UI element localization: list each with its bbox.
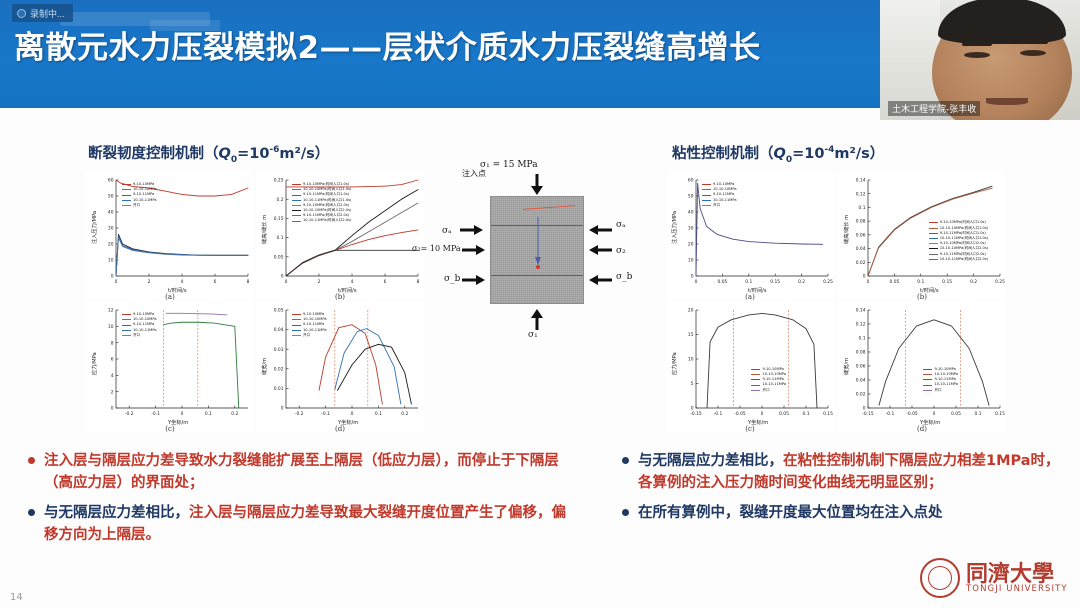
legend-swatch-icon	[702, 205, 711, 206]
legend-label: 开口	[762, 388, 769, 393]
bullet-text-segment: 在所有算例中，裂缝开度最大位置均在注入点处	[638, 505, 943, 521]
legend-swatch-icon	[292, 205, 301, 206]
y-tick-label: 10	[108, 324, 114, 330]
x-tick-label: 0	[351, 411, 354, 417]
chart-series-line	[319, 325, 382, 404]
x-tick-label: 0	[115, 279, 118, 285]
legend-swatch-icon	[929, 233, 938, 234]
x-tick-label: 0	[695, 279, 698, 285]
y-tick-label: 0.15	[274, 216, 284, 222]
x-axis-label: Y坐标/m	[920, 419, 940, 426]
legend-entry: 10-10-11MPa(时间人口2.0s)	[292, 218, 351, 223]
bullet-dot-icon	[28, 457, 35, 464]
x-tick-label: 4	[351, 279, 354, 285]
legend-entry: 开口	[292, 333, 327, 338]
recording-label: 录制中...	[30, 7, 65, 20]
chart-legend: 9-10-10MPa10-10-10MPa9-10-11MPa10-10-11M…	[751, 367, 786, 393]
legend-swatch-icon	[929, 222, 938, 223]
chart-plot-area: -0.15-0.1-0.0500.050.10.1505101520	[666, 302, 834, 432]
legend-swatch-icon	[702, 189, 711, 190]
legend-swatch-icon	[929, 228, 938, 229]
legend-swatch-icon	[122, 335, 131, 336]
chart-caption: (c)	[86, 425, 254, 433]
x-tick-label: -0.05	[906, 411, 918, 417]
speaker-eye-right	[1020, 50, 1046, 56]
x-tick-label: 0	[867, 279, 870, 285]
bullet-item: 与无隔层应力差相比，注入层与隔层应力差导致最大裂缝开度位置产生了偏移，偏移方向为…	[28, 502, 578, 547]
bullet-item: 与无隔层应力差相比，在粘性控制机制下隔层应力相差1MPa时，各算例的注入压力随时…	[622, 450, 1062, 495]
y-axis-label: 缝高/缝长 m	[261, 215, 268, 244]
chart-series-line	[116, 238, 248, 276]
x-tick-label: 0.25	[823, 279, 833, 285]
y-tick-label: 0	[863, 274, 866, 280]
legend-swatch-icon	[292, 189, 301, 190]
y-axis-label: 应力/MPa	[91, 352, 98, 375]
page-title: 离散元水力压裂模拟2——层状介质水力压裂缝高增长	[14, 22, 874, 67]
legend-swatch-icon	[923, 369, 932, 370]
x-tick-label: -0.2	[295, 411, 304, 417]
record-dot-icon	[17, 9, 26, 18]
chart-legend: 9-10-10MPa10-10-10MPa9-10-11MPa10-10-11M…	[923, 367, 958, 393]
sigma2-left-label: σ₂= 10 MPa	[412, 244, 461, 253]
y-tick-label: 0.02	[274, 366, 284, 372]
right-header-exp: -4	[824, 145, 834, 155]
legend-swatch-icon	[122, 314, 131, 315]
rock-specimen	[490, 196, 584, 304]
y-tick-label: 60	[688, 178, 694, 184]
left-header-eq: =10	[237, 146, 269, 162]
x-axis-label: Y坐标/m	[338, 419, 358, 426]
chart-series-line	[286, 250, 418, 276]
speaker-eye-left	[964, 52, 990, 58]
left-conclusions-list: 注入层与隔层应力差导致水力裂缝能扩展至上隔层（低应力层），而停止于下隔层（高应力…	[28, 450, 578, 554]
legend-swatch-icon	[702, 184, 711, 185]
legend-swatch-icon	[292, 200, 301, 201]
arrow-left-a-icon	[588, 224, 612, 236]
left-header-unit: m²/s）	[279, 146, 329, 162]
chart-left-a: 024680102030405060(a)t/时间/s注入压力/MPa9-10-…	[86, 172, 254, 300]
left-column-header: 断裂韧度控制机制（Q0=10-6m²/s）	[88, 142, 329, 165]
chart-series-line	[286, 230, 418, 276]
chart-plot-area: -0.2-0.100.10.2024681012	[86, 302, 254, 432]
x-tick-label: -0.1	[886, 411, 895, 417]
legend-label: 10-10-11MPa(时间人口2.0s)	[303, 218, 351, 223]
y-tick-label: 30	[688, 226, 694, 232]
chart-series-line	[337, 344, 411, 404]
x-tick-label: 0.05	[718, 279, 728, 285]
bullet-text: 在所有算例中，裂缝开度最大位置均在注入点处	[638, 502, 943, 524]
webcam-overlay[interactable]: 土木工程学院-张丰收	[880, 0, 1080, 120]
legend-label: 开口	[133, 203, 140, 208]
chart-caption: (c)	[666, 425, 834, 433]
y-tick-label: 0.1	[277, 235, 284, 241]
legend-swatch-icon	[751, 379, 760, 380]
chart-series-line	[166, 313, 227, 315]
page-number: 14	[10, 592, 23, 603]
y-tick-label: 0	[111, 274, 114, 280]
right-header-unit: m²/s）	[834, 146, 884, 162]
bullet-text: 与无隔层应力差相比，注入层与隔层应力差导致最大裂缝开度位置产生了偏移，偏移方向为…	[44, 502, 578, 547]
x-tick-label: -0.05	[734, 411, 746, 417]
chart-caption: (d)	[838, 425, 1006, 433]
y-tick-label: 20	[688, 242, 694, 248]
y-tick-label: 0.1	[859, 336, 866, 342]
x-tick-label: 0.25	[995, 279, 1005, 285]
y-tick-label: 20	[688, 308, 694, 314]
bullet-text-segment: 与无隔层应力差相比，	[638, 453, 783, 469]
legend-label: 开口	[133, 333, 140, 338]
x-axis-label: Y坐标/m	[748, 419, 768, 426]
chart-legend: 9-10-10MPa10-10-10MPa9-10-11MPa10-10-11M…	[702, 182, 737, 208]
arrow-right-2-icon	[462, 244, 486, 256]
x-tick-label: 0.15	[770, 279, 780, 285]
legend-swatch-icon	[122, 205, 131, 206]
bullet-dot-icon	[622, 509, 629, 516]
legend-entry: 开口	[122, 203, 157, 208]
logo-seal-icon	[920, 558, 960, 598]
x-tick-label: -0.2	[125, 411, 134, 417]
y-tick-label: 40	[688, 210, 694, 216]
legend-swatch-icon	[292, 210, 301, 211]
arrow-right-b-icon	[462, 274, 486, 286]
y-tick-label: 0	[691, 406, 694, 412]
chart-axes	[868, 310, 1000, 408]
y-tick-label: 0.02	[856, 392, 866, 398]
x-tick-label: 8	[247, 279, 250, 285]
sigma1-top-label: σ₁ = 15 MPa	[480, 160, 538, 170]
slide-root: 录制中... 离散元水力压裂模拟2——层状介质水力压裂缝高增长 土木工程学院-张…	[0, 0, 1080, 608]
chart-right-a: 00.050.10.150.20.250102030405060(a)t/时间/…	[666, 172, 834, 300]
right-header-text: 粘性控制机制（	[672, 146, 774, 162]
y-tick-label: 0.14	[856, 178, 866, 184]
y-tick-label: 0.1	[859, 205, 866, 211]
legend-entry: 10-10-11MPa(时间人口2.0s)	[929, 257, 988, 262]
chart-right-b: 00.050.10.150.20.2500.020.040.060.080.10…	[838, 172, 1006, 300]
y-tick-label: 10	[688, 258, 694, 264]
x-tick-label: 4	[181, 279, 184, 285]
y-tick-label: 2	[111, 389, 114, 395]
bullet-text: 与无隔层应力差相比，在粘性控制机制下隔层应力相差1MPa时，各算例的注入压力随时…	[638, 450, 1062, 495]
x-tick-label: 0	[761, 411, 764, 417]
x-axis-label: Y坐标/m	[168, 419, 188, 426]
y-tick-label: 0.12	[856, 322, 866, 328]
x-tick-label: 0	[285, 279, 288, 285]
chart-caption: (d)	[256, 425, 424, 433]
legend-swatch-icon	[923, 374, 932, 375]
y-tick-label: 6	[111, 357, 114, 363]
y-tick-label: 50	[108, 194, 114, 200]
bullet-item: 在所有算例中，裂缝开度最大位置均在注入点处	[622, 502, 1062, 524]
y-tick-label: 0.14	[856, 308, 866, 314]
legend-swatch-icon	[292, 221, 301, 222]
y-tick-label: 10	[108, 258, 114, 264]
legend-swatch-icon	[751, 390, 760, 391]
legend-swatch-icon	[292, 330, 301, 331]
y-tick-label: 0.04	[856, 246, 866, 252]
x-tick-label: 0.1	[205, 411, 212, 417]
chart-right-d: -0.15-0.1-0.0500.050.10.1500.020.040.060…	[838, 302, 1006, 432]
x-tick-label: 0.15	[942, 279, 952, 285]
legend-swatch-icon	[923, 390, 932, 391]
university-logo: 同濟大學 TONGJI UNIVERSITY	[920, 556, 1070, 602]
legend-entry: 开口	[751, 388, 786, 393]
x-tick-label: -0.1	[714, 411, 723, 417]
legend-swatch-icon	[292, 184, 301, 185]
legend-swatch-icon	[929, 243, 938, 244]
legend-swatch-icon	[122, 195, 131, 196]
legend-swatch-icon	[702, 200, 711, 201]
arrow-left-2-icon	[588, 244, 612, 256]
x-tick-label: 6	[214, 279, 217, 285]
x-tick-label: -0.1	[321, 411, 330, 417]
recording-indicator[interactable]: 录制中...	[12, 4, 73, 22]
chart-series-line	[116, 236, 248, 276]
sigma-a-left-label: σₐ	[442, 226, 452, 236]
x-tick-label: 0.05	[779, 411, 789, 417]
y-tick-label: 0.06	[856, 232, 866, 238]
x-axis-label: t/时间/s	[168, 287, 187, 294]
speaker-eyebrow-left	[962, 42, 992, 46]
legend-swatch-icon	[923, 379, 932, 380]
y-tick-label: 0	[111, 406, 114, 412]
arrow-up-bottom-icon	[530, 308, 544, 330]
legend-label: 开口	[303, 333, 310, 338]
chart-legend: 9-10-10MPa(时间人口1.0s)10-10-10MPa(时间人口1.0s…	[929, 220, 988, 262]
legend-swatch-icon	[292, 325, 301, 326]
speaker-mouth	[986, 98, 1028, 105]
legend-swatch-icon	[122, 330, 131, 331]
sigma-b-right-label: σ_b	[616, 272, 632, 282]
x-tick-label: 0.05	[951, 411, 961, 417]
y-tick-label: 0.25	[274, 178, 284, 184]
right-header-eq: =10	[792, 146, 824, 162]
y-tick-label: 0.04	[856, 378, 866, 384]
y-tick-label: 0.08	[856, 219, 866, 225]
legend-entry: 开口	[923, 388, 958, 393]
speaker-hair	[938, 0, 1066, 44]
left-header-exp: -6	[269, 145, 279, 155]
y-tick-label: 60	[108, 178, 114, 184]
y-axis-label: 缝高/缝长 m	[843, 215, 850, 244]
x-tick-label: 0.2	[798, 279, 805, 285]
y-tick-label: 20	[108, 242, 114, 248]
y-axis-label: 注入压力/MPa	[91, 211, 98, 244]
legend-swatch-icon	[702, 195, 711, 196]
y-tick-label: 0.01	[274, 386, 284, 392]
y-tick-label: 40	[108, 210, 114, 216]
legend-swatch-icon	[929, 248, 938, 249]
chart-legend: 9-10-10MPa(时间人口1.0s)10-10-10MPa(时间人口1.0s…	[292, 182, 351, 224]
y-tick-label: 12	[108, 308, 114, 314]
x-tick-label: 0.1	[917, 279, 924, 285]
lower-layer-interface	[491, 275, 583, 276]
x-tick-label: 8	[417, 279, 420, 285]
chart-series-line	[164, 322, 239, 408]
y-tick-label: 8	[111, 340, 114, 346]
y-tick-label: 15	[688, 332, 694, 338]
chart-left-b: 0246800.050.10.150.20.25(b)t/时间/s缝高/缝长 m…	[256, 172, 424, 300]
x-tick-label: 0	[181, 411, 184, 417]
y-axis-label: 缝宽/m	[261, 358, 268, 375]
y-tick-label: 0.05	[274, 308, 284, 314]
y-tick-label: 0.12	[856, 191, 866, 197]
speaker-eyebrow-right	[1018, 40, 1048, 44]
y-tick-label: 0	[863, 406, 866, 412]
y-tick-label: 10	[688, 357, 694, 363]
right-conclusions-list: 与无隔层应力差相比，在粘性控制机制下隔层应力相差1MPa时，各算例的注入压力随时…	[622, 450, 1062, 531]
arrow-left-b-icon	[588, 274, 612, 286]
sigma-a-right-label: σₐ	[616, 220, 626, 230]
chart-series-line	[707, 313, 817, 408]
legend-entry: 开口	[122, 333, 157, 338]
x-tick-label: -0.15	[690, 411, 702, 417]
x-tick-label: 0.1	[375, 411, 382, 417]
x-tick-label: 0.05	[890, 279, 900, 285]
bullet-text: 注入层与隔层应力差导致水力裂缝能扩展至上隔层（低应力层），而停止于下隔层（高应力…	[44, 450, 578, 495]
y-tick-label: 0	[691, 274, 694, 280]
legend-swatch-icon	[292, 195, 301, 196]
legend-swatch-icon	[292, 319, 301, 320]
legend-swatch-icon	[292, 314, 301, 315]
injection-point-dot	[536, 265, 540, 269]
legend-swatch-icon	[929, 254, 938, 255]
legend-swatch-icon	[751, 374, 760, 375]
speaker-name-caption: 土木工程学院-张丰收	[888, 101, 980, 116]
chart-plot-area: 00.050.10.150.20.250102030405060	[666, 172, 834, 300]
arrow-right-a-icon	[460, 224, 484, 236]
legend-swatch-icon	[292, 215, 301, 216]
chart-caption: (b)	[256, 293, 424, 301]
y-tick-label: 4	[111, 373, 114, 379]
chart-plot-area: -0.2-0.100.10.200.010.020.030.040.05	[256, 302, 424, 432]
x-axis-label: t/时间/s	[748, 287, 767, 294]
sigma-b-left-label: σ_b	[444, 274, 460, 284]
left-header-q: Q	[219, 146, 231, 162]
chart-right-c: -0.15-0.1-0.0500.050.10.1505101520(c)Y坐标…	[666, 302, 834, 432]
y-axis-label: 应力/MPa	[671, 352, 678, 375]
chart-legend: 9-10-10MPa10-10-10MPa9-10-11MPa10-10-11M…	[122, 182, 157, 208]
y-tick-label: 0.02	[856, 260, 866, 266]
sigma1-bottom-label: σ₁	[528, 330, 538, 340]
left-header-text: 断裂韧度控制机制（	[88, 146, 219, 162]
chart-plot-area: -0.15-0.1-0.0500.050.10.1500.020.040.060…	[838, 302, 1006, 432]
legend-swatch-icon	[122, 319, 131, 320]
legend-label: 10-10-11MPa(时间人口2.0s)	[940, 257, 988, 262]
x-tick-label: 6	[384, 279, 387, 285]
y-tick-label: 50	[688, 194, 694, 200]
x-tick-label: 0.1	[975, 411, 982, 417]
x-tick-label: -0.15	[862, 411, 874, 417]
x-axis-label: t/时间/s	[920, 287, 939, 294]
bullet-dot-icon	[622, 457, 629, 464]
y-tick-label: 5	[691, 381, 694, 387]
y-tick-label: 0.2	[277, 197, 284, 203]
chart-legend: 9-10-10MPa10-10-10MPa9-10-11MPa10-10-11M…	[292, 312, 327, 338]
x-tick-label: 2	[318, 279, 321, 285]
chart-axes	[696, 310, 828, 408]
y-tick-label: 0	[281, 406, 284, 412]
bullet-dot-icon	[28, 509, 35, 516]
y-tick-label: 0.08	[856, 350, 866, 356]
right-column-header: 粘性控制机制（Q0=10-4m²/s）	[672, 142, 884, 165]
x-tick-label: 0.15	[995, 411, 1005, 417]
y-tick-label: 0.06	[856, 364, 866, 370]
x-tick-label: 0	[933, 411, 936, 417]
x-tick-label: 0.1	[803, 411, 810, 417]
chart-plot-area: 024680102030405060	[86, 172, 254, 300]
legend-swatch-icon	[122, 189, 131, 190]
y-tick-label: 0.03	[274, 347, 284, 353]
bullet-text-segment: 与无隔层应力差相比，	[44, 505, 189, 521]
x-tick-label: 0.2	[401, 411, 408, 417]
legend-swatch-icon	[122, 200, 131, 201]
legend-swatch-icon	[292, 335, 301, 336]
legend-swatch-icon	[751, 385, 760, 386]
y-tick-label: 0	[281, 274, 284, 280]
legend-swatch-icon	[929, 259, 938, 260]
y-tick-label: 0.05	[274, 254, 284, 260]
legend-entry: 开口	[702, 203, 737, 208]
y-tick-label: 30	[108, 226, 114, 232]
bullet-text-segment: 注入层与隔层应力差导致水力裂缝能扩展至上隔层（低应力层），而停止于下隔层（高应力…	[44, 453, 559, 491]
legend-swatch-icon	[122, 325, 131, 326]
bullet-item: 注入层与隔层应力差导致水力裂缝能扩展至上隔层（低应力层），而停止于下隔层（高应力…	[28, 450, 578, 495]
logo-english-name: TONGJI UNIVERSITY	[966, 584, 1068, 594]
injection-arrow-icon	[533, 217, 543, 267]
arrow-down-top-icon	[530, 174, 544, 196]
stress-schematic-diagram: σ₁ = 15 MPa 注入点 σₐ σ₂= 10 MPa σ_b	[436, 158, 636, 358]
x-tick-label: 2	[148, 279, 151, 285]
x-axis-label: t/时间/s	[338, 287, 357, 294]
chart-caption: (a)	[86, 293, 254, 301]
x-tick-label: 0.2	[970, 279, 977, 285]
injection-point-label: 注入点	[462, 168, 486, 179]
chart-legend: 9-10-10MPa10-10-10MPa9-10-11MPa10-10-11M…	[122, 312, 157, 338]
sigma2-right-label: σ₂	[616, 246, 626, 256]
chart-left-c: -0.2-0.100.10.2024681012(c)Y坐标/m应力/MPa9-…	[86, 302, 254, 432]
fracture-trace	[523, 205, 575, 210]
x-tick-label: -0.1	[151, 411, 160, 417]
legend-swatch-icon	[923, 385, 932, 386]
legend-label: 开口	[713, 203, 720, 208]
y-tick-label: 0.04	[274, 327, 284, 333]
chart-caption: (a)	[666, 293, 834, 301]
legend-label: 开口	[934, 388, 941, 393]
x-tick-label: 0.15	[823, 411, 833, 417]
right-header-q: Q	[774, 146, 786, 162]
legend-swatch-icon	[751, 369, 760, 370]
legend-swatch-icon	[122, 184, 131, 185]
chart-caption: (b)	[838, 293, 1006, 301]
x-tick-label: 0.1	[745, 279, 752, 285]
y-axis-label: 缝宽/m	[843, 358, 850, 375]
y-axis-label: 注入压力/MPa	[671, 211, 678, 244]
x-tick-label: 0.2	[231, 411, 238, 417]
chart-left-d: -0.2-0.100.10.200.010.020.030.040.05(d)Y…	[256, 302, 424, 432]
legend-swatch-icon	[929, 238, 938, 239]
